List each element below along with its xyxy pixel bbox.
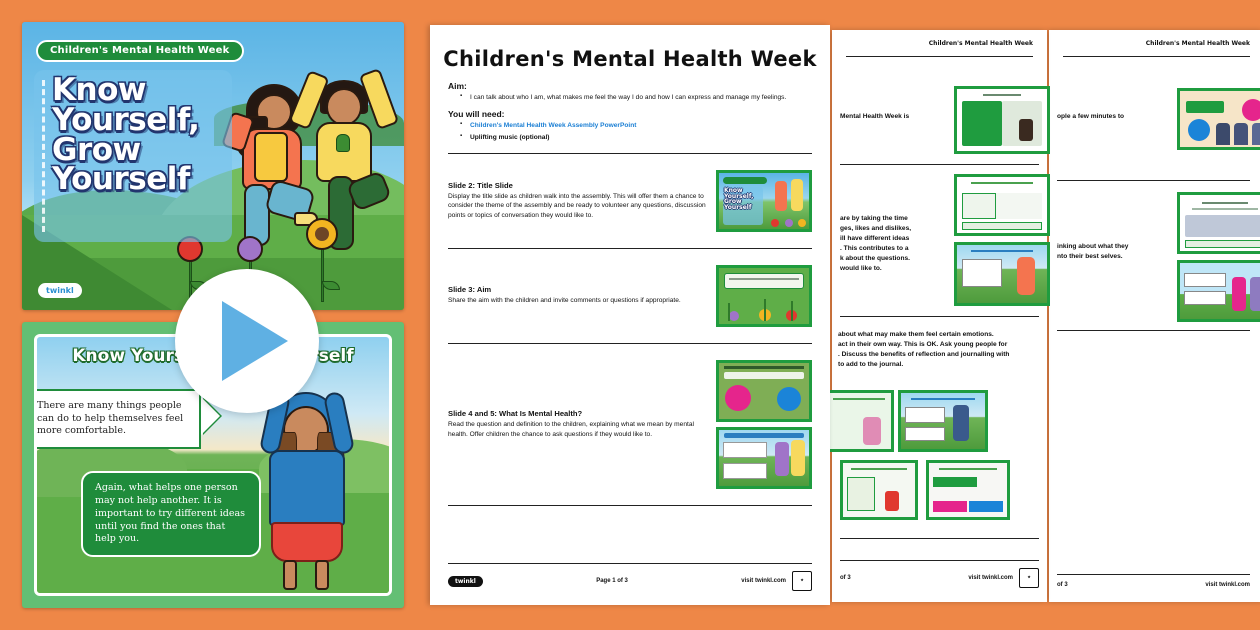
page2-thumb-3 [954, 242, 1050, 306]
page1-paper-saver-stamp: ★ [792, 571, 812, 591]
page2-clip-line-10: . Discuss the benefits of reflection and… [838, 350, 1044, 360]
page3-clip-line-3: nto their best selves. [1057, 252, 1165, 262]
preview-title-slide[interactable]: Children's Mental Health Week Know Yours… [22, 22, 404, 310]
need-heading: You will need: [448, 109, 812, 119]
page3-clip-line-2: inking about what they [1057, 242, 1165, 252]
page2-clip-line-6: k about the questions. [840, 254, 950, 264]
page2-clip-line-3: ges, likes and dislikes, [840, 224, 950, 234]
page2-visit: visit twinkl.com [968, 575, 1013, 581]
page2-clip-line-2: are by taking the time [840, 214, 950, 224]
page2-thumb-4 [824, 390, 894, 452]
section-body-slide-3: Share the aim with the children and invi… [448, 296, 706, 306]
page2-thumb-1 [954, 86, 1050, 154]
page2-clip-line-4: ill have different ideas [840, 234, 950, 244]
week-badge: Children's Mental Health Week [36, 40, 244, 62]
document-page-1[interactable]: Children's Mental Health Week Aim: I can… [430, 25, 830, 605]
dashed-divider [42, 80, 45, 232]
page2-number: of 3 [840, 575, 851, 581]
page3-clip-line-1: ople a few minutes to [1057, 112, 1163, 122]
page2-clip-line-7: would like to. [840, 264, 950, 274]
page3-thumb-3 [1177, 260, 1260, 322]
page2-clip-line-11: to add to the journal. [838, 360, 1044, 370]
play-icon [222, 301, 288, 381]
page2-header: Children's Mental Health Week [929, 40, 1033, 47]
page3-number: of 3 [1057, 582, 1068, 588]
slide-preview-stack: Children's Mental Health Week Know Yours… [22, 22, 404, 608]
screenshot-root: Children's Mental Health Week Know Yours… [0, 0, 1260, 630]
section-heading-slide-3: Slide 3: Aim [448, 285, 706, 294]
page3-thumb-2 [1177, 192, 1260, 254]
page3-footer: of 3 visit twinkl.com [1057, 574, 1250, 588]
page1-number: Page 1 of 3 [596, 578, 628, 584]
twinkl-logo: twinkl [38, 283, 82, 298]
section-row-slide-4-5: Slide 4 and 5: What Is Mental Health? Re… [430, 354, 830, 495]
page2-thumb-5 [898, 390, 988, 452]
page2-footer: of 3 visit twinkl.com ★ [840, 560, 1039, 588]
page3-header: Children's Mental Health Week [1146, 40, 1250, 47]
need-list-item-link[interactable]: Children's Mental Health Week Assembly P… [460, 121, 812, 131]
page2-clip-line-5: . This contributes to a [840, 244, 950, 254]
green-callout-box: Again, what helps one person may not hel… [81, 471, 261, 557]
section-thumbs-slide-4-5 [716, 360, 812, 489]
page1-footer: twinkl Page 1 of 3 visit twinkl.com ★ [448, 563, 812, 591]
illustration-boy [290, 64, 400, 280]
aim-slide-thumb [716, 265, 812, 327]
section-row-slide-2: Slide 2: Title Slide Display the title s… [430, 164, 830, 238]
powerpoint-link[interactable]: Children's Mental Health Week Assembly P… [470, 122, 636, 129]
aim-heading: Aim: [448, 81, 812, 91]
section-body-slide-2: Display the title slide as children walk… [448, 192, 706, 221]
section-thumbs-slide-2: KnowYourself,GrowYourself [716, 170, 812, 232]
page2-clip-line-9: act in their own way. This is OK. Ask yo… [838, 340, 1044, 350]
page1-visit: visit twinkl.com [741, 578, 786, 584]
aim-list: I can talk about who I am, what makes me… [460, 93, 812, 103]
twinkl-footer-logo: twinkl [448, 576, 483, 587]
what-is-mental-health-thumb [716, 360, 812, 422]
section-heading-slide-2: Slide 2: Title Slide [448, 181, 706, 190]
page2-paper-saver-stamp: ★ [1019, 568, 1039, 588]
need-list-item: Uplifting music (optional) [460, 133, 812, 143]
page3-thumb-1 [1177, 88, 1260, 150]
play-button[interactable] [175, 269, 319, 413]
page2-thumb-2 [954, 174, 1050, 236]
document-page-2[interactable]: Children's Mental Health Week Mental Hea… [832, 30, 1047, 602]
section-row-slide-3: Slide 3: Aim Share the aim with the chil… [430, 259, 830, 333]
what-is-mental-health-2-thumb [716, 427, 812, 489]
speech-bubble: There are many things people can do to h… [34, 389, 201, 449]
section-body-slide-4-5: Read the question and definition to the … [448, 420, 706, 439]
page3-visit: visit twinkl.com [1205, 582, 1250, 588]
section-thumbs-slide-3 [716, 265, 812, 327]
page2-clip-line-1: Mental Health Week is [840, 112, 948, 122]
section-heading-slide-4-5: Slide 4 and 5: What Is Mental Health? [448, 409, 706, 418]
page-title: Children's Mental Health Week [430, 47, 830, 71]
slide-title-line-4: Yourself [52, 165, 242, 195]
page1-body: Aim: I can talk about who I am, what mak… [430, 81, 830, 143]
divider-4 [448, 505, 812, 506]
page2-thumb-7 [926, 460, 1010, 520]
page2-thumb-6 [840, 460, 918, 520]
divider-1 [448, 153, 812, 154]
need-list: Children's Mental Health Week Assembly P… [460, 121, 812, 143]
page2-clip-line-8: about what may make them feel certain em… [838, 330, 1044, 340]
aim-list-item: I can talk about who I am, what makes me… [460, 93, 812, 103]
divider-3 [448, 343, 812, 344]
title-slide-thumb: KnowYourself,GrowYourself [716, 170, 812, 232]
divider-2 [448, 248, 812, 249]
document-page-3[interactable]: Children's Mental Health Week ople a few… [1049, 30, 1260, 602]
slide-title: Know Yourself, Grow Yourself [52, 76, 242, 195]
